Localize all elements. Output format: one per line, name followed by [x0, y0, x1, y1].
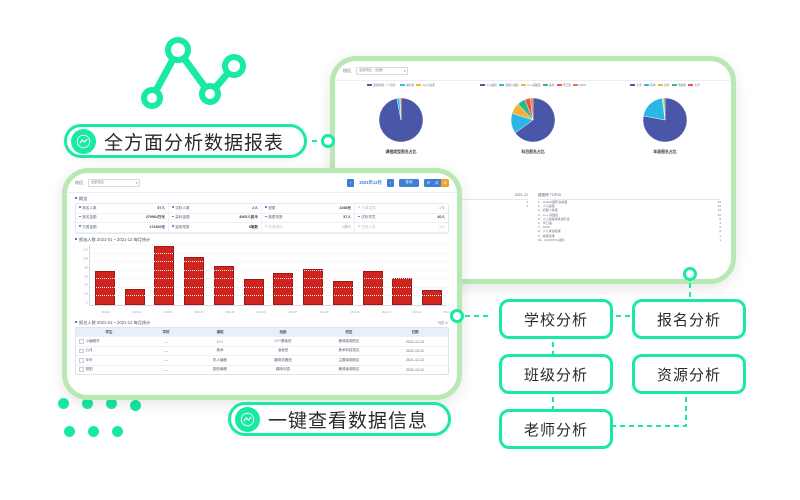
analysis-button-teacher[interactable]: 老师分析: [499, 409, 613, 449]
poster-stage: 校区 全部校区（全部） ▾ 课程内容（一对多）试听课1v1小班课 课程类型报名占…: [0, 0, 800, 500]
connector-node-top: [321, 134, 335, 148]
analysis-button-resource[interactable]: 资源分析: [632, 354, 746, 394]
connector-node-right: [683, 267, 697, 281]
chart-line-icon-2: [235, 407, 260, 432]
chart-line-icon: [71, 129, 96, 154]
analysis-button-signup[interactable]: 报名分析: [632, 299, 746, 339]
analysis-button-school[interactable]: 学校分析: [499, 299, 613, 339]
connector-node-mid: [450, 309, 464, 323]
pill-label-oneclick[interactable]: 一键查看数据信息: [228, 402, 451, 436]
analysis-button-class[interactable]: 班级分析: [499, 354, 613, 394]
pill-label-oneclick-text: 一键查看数据信息: [268, 406, 428, 433]
pill-label-reports[interactable]: 全方面分析数据报表: [64, 124, 307, 158]
pill-label-reports-text: 全方面分析数据报表: [104, 128, 284, 155]
